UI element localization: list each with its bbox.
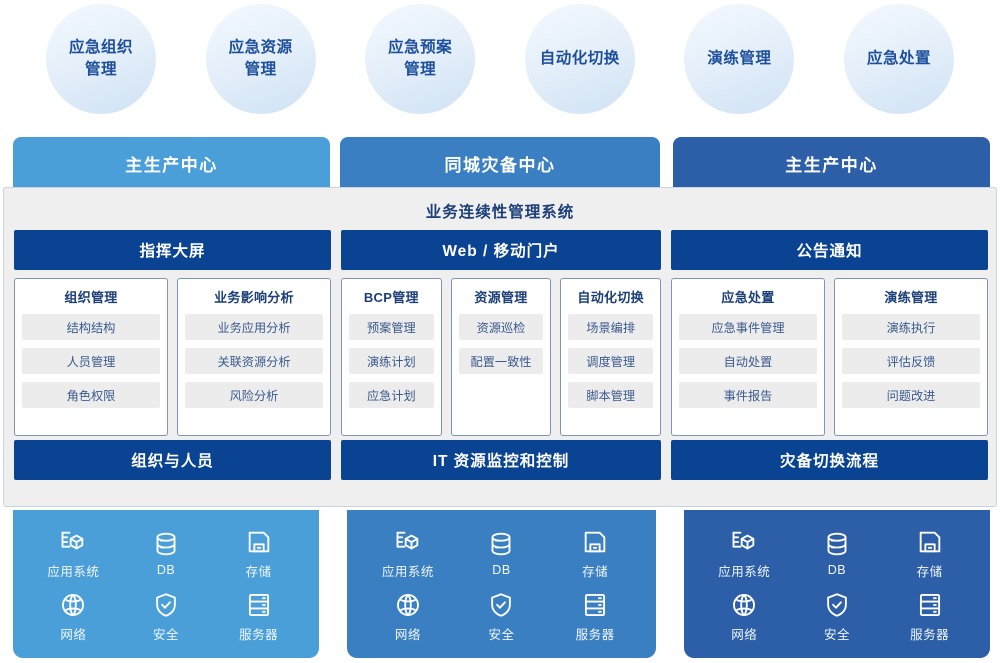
card-item[interactable]: 事件报告 bbox=[679, 382, 817, 408]
module-card-emergency-response[interactable]: 应急处置 应急事件管理 自动处置 事件报告 bbox=[671, 278, 825, 436]
circle-label-line2: 管理 bbox=[61, 59, 141, 81]
capability-circle-drill-management[interactable]: 演练管理 bbox=[684, 4, 794, 114]
card-title: 自动化切换 bbox=[568, 287, 653, 306]
header-gap bbox=[660, 137, 673, 189]
application-system-icon bbox=[59, 528, 87, 556]
card-item[interactable]: 业务应用分析 bbox=[185, 314, 323, 340]
infrastructure-panel-primary-2: 应用系统 DB bbox=[684, 510, 990, 658]
infra-label: 服务器 bbox=[239, 624, 278, 643]
card-item[interactable]: 人员管理 bbox=[22, 348, 160, 374]
capability-circle-automated-switchover[interactable]: 自动化切换 bbox=[525, 4, 635, 114]
infra-item-security[interactable]: 安全 bbox=[823, 591, 851, 643]
header-gap bbox=[330, 137, 340, 189]
circle-label-line1: 应急处置 bbox=[859, 48, 939, 70]
infra-label: DB bbox=[492, 563, 510, 577]
circle-label-line1: 应急组织 bbox=[61, 37, 141, 59]
capability-circle-row: 应急组织 管理 应急资源 管理 应急预案 管理 自动化切换 演练管理 bbox=[0, 4, 1000, 126]
infra-item-application-system[interactable]: 应用系统 bbox=[718, 528, 770, 580]
card-item[interactable]: 角色权限 bbox=[22, 382, 160, 408]
datacenter-header-primary-2[interactable]: 主生产中心 bbox=[673, 137, 990, 189]
infra-item-storage[interactable]: 存储 bbox=[916, 528, 944, 580]
bcm-bar-web-mobile-portal[interactable]: Web / 移动门户 bbox=[341, 230, 661, 270]
bcm-bar-organization-personnel[interactable]: 组织与人员 bbox=[14, 440, 331, 480]
infra-label: 安全 bbox=[488, 624, 514, 643]
infra-item-storage[interactable]: 存储 bbox=[581, 528, 609, 580]
infra-item-storage[interactable]: 存储 bbox=[245, 528, 273, 580]
bcm-bar-announcement[interactable]: 公告通知 bbox=[671, 230, 988, 270]
capability-circle-emergency-plan[interactable]: 应急预案 管理 bbox=[365, 4, 475, 114]
datacenter-header-row: 主生产中心 同城灾备中心 主生产中心 bbox=[13, 137, 990, 189]
security-shield-icon bbox=[823, 591, 851, 619]
card-item[interactable]: 应急计划 bbox=[349, 382, 434, 408]
card-item[interactable]: 预案管理 bbox=[349, 314, 434, 340]
datacenter-header-primary-1[interactable]: 主生产中心 bbox=[13, 137, 330, 189]
bcm-bar-command-screen[interactable]: 指挥大屏 bbox=[14, 230, 331, 270]
infra-label: 存储 bbox=[582, 561, 608, 580]
infra-item-database[interactable]: DB bbox=[152, 530, 180, 577]
card-title: 资源管理 bbox=[459, 287, 544, 306]
circle-label-line2: 管理 bbox=[380, 59, 460, 81]
card-group-left: 组织管理 结构结构 人员管理 角色权限 业务影响分析 业务应用分析 关联资源分析… bbox=[14, 278, 331, 436]
server-rack-icon bbox=[581, 591, 609, 619]
network-icon bbox=[59, 591, 87, 619]
infra-label: 应用系统 bbox=[718, 561, 770, 580]
server-rack-icon bbox=[245, 591, 273, 619]
card-item[interactable]: 资源巡检 bbox=[459, 314, 544, 340]
infra-item-database[interactable]: DB bbox=[823, 530, 851, 577]
infra-item-network[interactable]: 网络 bbox=[394, 591, 422, 643]
bcm-bottom-bar-row: 组织与人员 IT 资源监控和控制 灾备切换流程 bbox=[14, 440, 986, 480]
card-item[interactable]: 调度管理 bbox=[568, 348, 653, 374]
infra-label: 网络 bbox=[395, 624, 421, 643]
circle-label-line1: 应急资源 bbox=[221, 37, 301, 59]
capability-circle-emergency-organization[interactable]: 应急组织 管理 bbox=[46, 4, 156, 114]
infra-item-server[interactable]: 服务器 bbox=[239, 591, 278, 643]
module-card-organization-management[interactable]: 组织管理 结构结构 人员管理 角色权限 bbox=[14, 278, 168, 436]
infra-item-database[interactable]: DB bbox=[487, 530, 515, 577]
card-title: 演练管理 bbox=[842, 287, 980, 306]
bcm-container: 业务连续性管理系统 指挥大屏 Web / 移动门户 公告通知 组织管理 结构结构… bbox=[3, 187, 997, 507]
module-card-resource-management[interactable]: 资源管理 资源巡检 配置一致性 bbox=[451, 278, 552, 436]
card-item[interactable]: 演练计划 bbox=[349, 348, 434, 374]
database-icon bbox=[487, 530, 515, 558]
infra-item-application-system[interactable]: 应用系统 bbox=[47, 528, 99, 580]
infra-label: DB bbox=[828, 563, 846, 577]
application-system-icon bbox=[730, 528, 758, 556]
infra-item-network[interactable]: 网络 bbox=[59, 591, 87, 643]
infra-item-application-system[interactable]: 应用系统 bbox=[382, 528, 434, 580]
infrastructure-panel-primary-1: 应用系统 DB bbox=[13, 510, 319, 658]
card-title: 应急处置 bbox=[679, 287, 817, 306]
storage-icon bbox=[916, 528, 944, 556]
circle-label-line1: 演练管理 bbox=[699, 48, 779, 70]
infra-item-network[interactable]: 网络 bbox=[730, 591, 758, 643]
infra-item-server[interactable]: 服务器 bbox=[576, 591, 615, 643]
storage-icon bbox=[245, 528, 273, 556]
card-title: 业务影响分析 bbox=[185, 287, 323, 306]
bcm-top-bar-row: 指挥大屏 Web / 移动门户 公告通知 bbox=[14, 230, 986, 270]
card-item[interactable]: 问题改进 bbox=[842, 382, 980, 408]
infra-label: DB bbox=[157, 563, 175, 577]
database-icon bbox=[152, 530, 180, 558]
infra-item-security[interactable]: 安全 bbox=[152, 591, 180, 643]
infrastructure-row: 应用系统 DB bbox=[13, 510, 990, 658]
infra-label: 服务器 bbox=[910, 624, 949, 643]
module-card-business-impact-analysis[interactable]: 业务影响分析 业务应用分析 关联资源分析 风险分析 bbox=[177, 278, 331, 436]
network-icon bbox=[730, 591, 758, 619]
infra-label: 存储 bbox=[917, 561, 943, 580]
card-item[interactable]: 场景编排 bbox=[568, 314, 653, 340]
infra-label: 应用系统 bbox=[382, 561, 434, 580]
card-item[interactable]: 自动处置 bbox=[679, 348, 817, 374]
card-item[interactable]: 风险分析 bbox=[185, 382, 323, 408]
card-title: 组织管理 bbox=[22, 287, 160, 306]
database-icon bbox=[823, 530, 851, 558]
capability-circle-emergency-resource[interactable]: 应急资源 管理 bbox=[206, 4, 316, 114]
card-group-right: 应急处置 应急事件管理 自动处置 事件报告 演练管理 演练执行 评估反馈 问题改… bbox=[671, 278, 988, 436]
network-icon bbox=[394, 591, 422, 619]
infra-label: 网络 bbox=[731, 624, 757, 643]
infra-label: 网络 bbox=[60, 624, 86, 643]
infra-label: 存储 bbox=[246, 561, 272, 580]
card-item[interactable]: 演练执行 bbox=[842, 314, 980, 340]
infra-label: 服务器 bbox=[576, 624, 615, 643]
card-item[interactable]: 结构结构 bbox=[22, 314, 160, 340]
security-shield-icon bbox=[152, 591, 180, 619]
card-item[interactable]: 评估反馈 bbox=[842, 348, 980, 374]
infra-gap bbox=[319, 510, 347, 658]
card-item[interactable]: 脚本管理 bbox=[568, 382, 653, 408]
circle-label-line2: 管理 bbox=[221, 59, 301, 81]
storage-icon bbox=[581, 528, 609, 556]
infra-item-security[interactable]: 安全 bbox=[487, 591, 515, 643]
module-card-bcp-management[interactable]: BCP管理 预案管理 演练计划 应急计划 bbox=[341, 278, 442, 436]
module-card-automated-switchover[interactable]: 自动化切换 场景编排 调度管理 脚本管理 bbox=[560, 278, 661, 436]
infra-label: 应用系统 bbox=[47, 561, 99, 580]
security-shield-icon bbox=[487, 591, 515, 619]
bcm-module-card-row: 组织管理 结构结构 人员管理 角色权限 业务影响分析 业务应用分析 关联资源分析… bbox=[14, 278, 986, 436]
server-rack-icon bbox=[916, 591, 944, 619]
circle-label-line1: 应急预案 bbox=[380, 37, 460, 59]
capability-circle-emergency-response[interactable]: 应急处置 bbox=[844, 4, 954, 114]
card-title: BCP管理 bbox=[349, 287, 434, 306]
circle-label-line1: 自动化切换 bbox=[532, 48, 628, 70]
bcm-system-title: 业务连续性管理系统 bbox=[14, 196, 986, 226]
architecture-diagram: 应急组织 管理 应急资源 管理 应急预案 管理 自动化切换 演练管理 bbox=[0, 0, 1000, 663]
datacenter-header-metro-dr[interactable]: 同城灾备中心 bbox=[340, 137, 660, 189]
card-group-middle: BCP管理 预案管理 演练计划 应急计划 资源管理 资源巡检 配置一致性 自动化… bbox=[341, 278, 661, 436]
application-system-icon bbox=[394, 528, 422, 556]
card-item[interactable]: 配置一致性 bbox=[459, 348, 544, 374]
infra-label: 安全 bbox=[153, 624, 179, 643]
infrastructure-panel-metro-dr: 应用系统 DB bbox=[347, 510, 656, 658]
infra-item-server[interactable]: 服务器 bbox=[910, 591, 949, 643]
bcm-bar-dr-switchover-process[interactable]: 灾备切换流程 bbox=[671, 440, 988, 480]
card-item[interactable]: 关联资源分析 bbox=[185, 348, 323, 374]
bcm-bar-it-resource-monitoring[interactable]: IT 资源监控和控制 bbox=[341, 440, 661, 480]
module-card-drill-management[interactable]: 演练管理 演练执行 评估反馈 问题改进 bbox=[834, 278, 988, 436]
infra-label: 安全 bbox=[824, 624, 850, 643]
infra-gap bbox=[656, 510, 684, 658]
card-item[interactable]: 应急事件管理 bbox=[679, 314, 817, 340]
